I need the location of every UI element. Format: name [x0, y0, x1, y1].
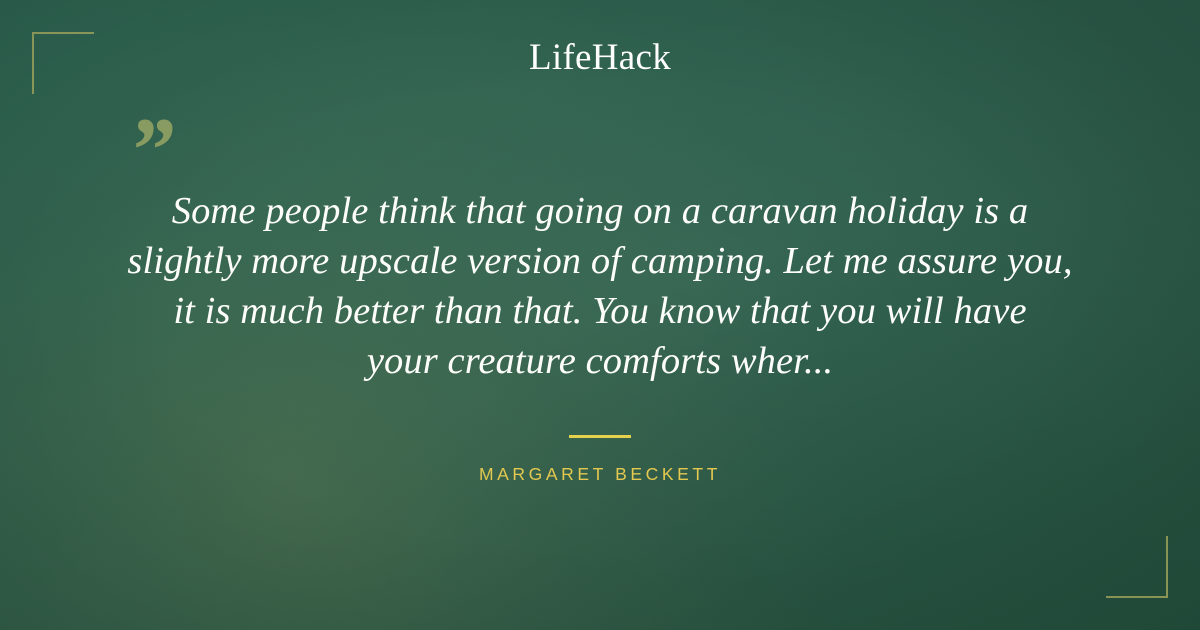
quote-card: LifeHack ” Some people think that going … [0, 0, 1200, 630]
quote-line: your creature comforts wher... [90, 336, 1110, 386]
quote-block: Some people think that going on a carava… [90, 186, 1110, 386]
corner-bracket-bottom-right-icon [1106, 536, 1168, 598]
divider-row [0, 435, 1200, 438]
quotation-mark-icon: ” [128, 104, 174, 196]
brand-logo: LifeHack [0, 38, 1200, 79]
quote-line: slightly more upscale version of camping… [90, 236, 1110, 286]
quote-line: it is much better than that. You know th… [90, 286, 1110, 336]
quote-line: Some people think that going on a carava… [90, 186, 1110, 236]
quote-author: MARGARET BECKETT [0, 464, 1200, 485]
accent-divider [569, 435, 631, 438]
